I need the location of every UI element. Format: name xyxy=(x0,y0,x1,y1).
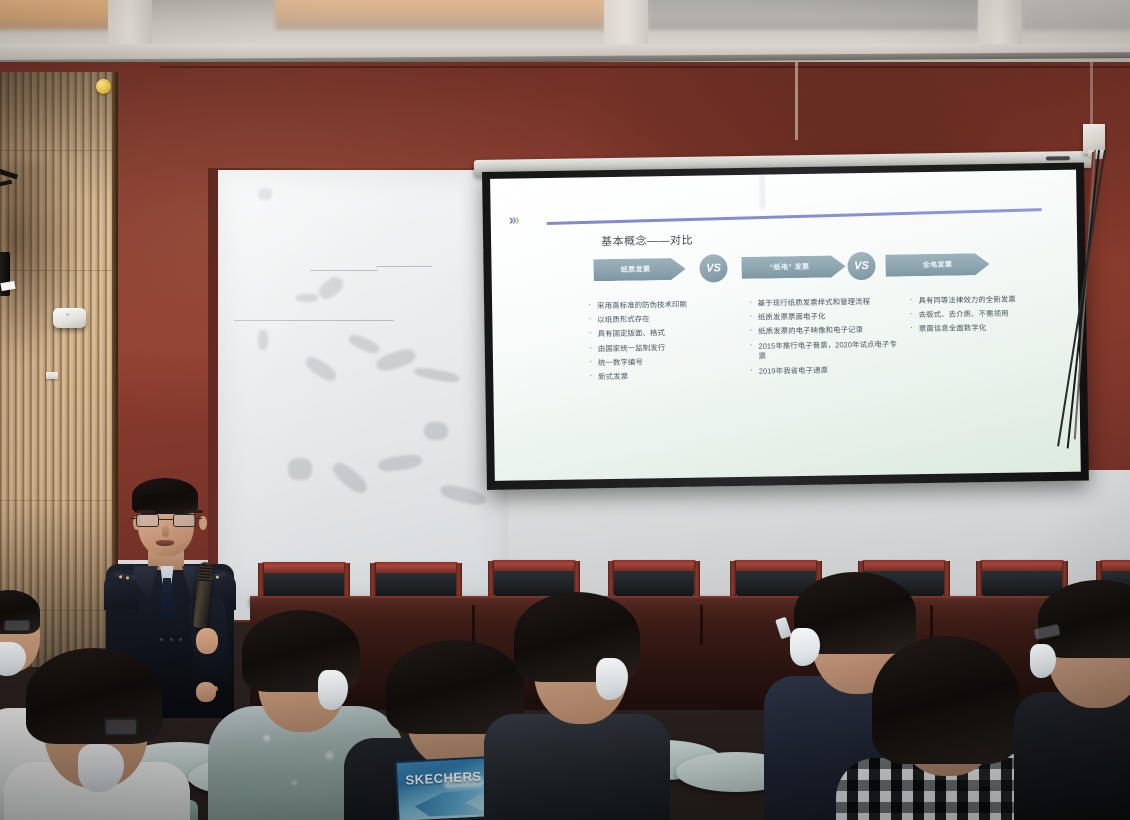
epaulette-star-icon xyxy=(216,575,219,578)
list-item: 新式发票 xyxy=(589,370,740,383)
slide-header-rule xyxy=(547,208,1042,224)
ceiling-recess-panel xyxy=(0,0,110,30)
list-item: 具有同等法律效力的全新发票 xyxy=(909,294,1060,307)
uniform-button xyxy=(179,638,182,641)
list-item: 纸质发票票面电子化 xyxy=(749,311,900,324)
presenter-hair xyxy=(132,478,198,514)
chair-seat xyxy=(614,571,694,597)
vs-badge-2: VS xyxy=(847,252,875,280)
attendee-top xyxy=(484,714,670,820)
ceiling-recess-panel xyxy=(1022,0,1130,30)
microphone-grille-icon xyxy=(198,563,212,582)
eyeglasses-icon xyxy=(4,620,30,631)
list-item: 具有固定版面、格式 xyxy=(588,327,739,340)
list-item: 由国家统一监制发行 xyxy=(589,342,740,355)
eyeglass-temple xyxy=(130,518,136,519)
eyeglasses-icon xyxy=(104,718,138,736)
attendee-hair xyxy=(1038,580,1130,658)
attendee-hair xyxy=(872,636,1020,764)
list-item: 2015年推行电子普票，2020年试点电子专票 xyxy=(749,339,900,363)
whiteboard-glare xyxy=(218,170,508,595)
list-item: 采用高标准的防伪技术印刷 xyxy=(588,299,739,312)
graphic-swoosh-shape xyxy=(414,788,491,818)
chair-post xyxy=(944,561,950,601)
list-item: 纸质发票的电子映像和电子记录 xyxy=(749,325,900,338)
comparison-tag-row: 纸质发票 VS “纸电” 发票 VS 全电发票 xyxy=(593,251,1013,286)
paper-invoice-column: 采用高标准的防伪技术印刷 以纸质形式存在 具有固定版面、格式 由国家统一监制发行… xyxy=(588,299,741,441)
ceiling-recess-panel xyxy=(275,0,605,30)
tv-wall-mount-bracket xyxy=(0,170,24,295)
ceiling-beam xyxy=(978,0,1022,44)
face-mask xyxy=(318,670,348,710)
presenter-eyebrow xyxy=(137,510,155,513)
gold-emblem-badge xyxy=(96,79,111,94)
uniform-button xyxy=(170,638,173,641)
slide-title: 基本概念——对比 xyxy=(601,232,693,249)
mount-arm xyxy=(0,180,12,188)
list-item: 去版式、去介质、不需领用 xyxy=(910,308,1061,321)
fully-electronic-invoice-column: 具有同等法律效力的全新发票 去版式、去介质、不需领用 票面信息全面数字化 xyxy=(909,294,1062,436)
presenter-eyebrow xyxy=(185,510,203,513)
projection-screen-frame: ››› 基本概念——对比 纸质发票 VS “纸电” 发票 VS 全电发票 采用高… xyxy=(482,163,1089,490)
chevron-right-icon: › xyxy=(515,211,518,228)
eyeglass-temple xyxy=(196,518,202,519)
slat-panel-seam xyxy=(0,500,116,501)
wall-top-trim xyxy=(160,66,1130,68)
presenter-hand xyxy=(196,682,216,702)
list-item: 以纸质形式存在 xyxy=(588,313,739,326)
eyeglass-lens xyxy=(173,514,196,527)
list-item: 票面信息全面数字化 xyxy=(910,322,1061,335)
attendee-left-masked xyxy=(18,652,168,820)
status-led-icon xyxy=(66,313,69,316)
uniform-button xyxy=(160,638,163,641)
dais-panel-seam xyxy=(700,605,703,645)
presenter-nose xyxy=(162,526,169,537)
presenter-mouth xyxy=(156,540,174,546)
tag-fully-electronic-invoice: 全电发票 xyxy=(885,253,989,277)
vs-badge-1: VS xyxy=(699,254,727,282)
wall-switch-plate[interactable] xyxy=(46,372,58,379)
presentation-slide: ››› 基本概念——对比 纸质发票 VS “纸电” 发票 VS 全电发票 采用高… xyxy=(490,170,1081,481)
roller-vent xyxy=(1046,156,1070,160)
slat-panel-seam xyxy=(0,150,116,151)
slide-bullet-columns: 采用高标准的防伪技术印刷 以纸质形式存在 具有固定版面、格式 由国家统一监制发行… xyxy=(588,294,1062,441)
attendee-hair xyxy=(26,648,162,744)
list-item: 2019年我省电子通票 xyxy=(750,364,901,377)
epaulette-star-icon xyxy=(126,576,129,579)
tag-paper-invoice: 纸质发票 xyxy=(593,258,685,281)
uniform-buttons xyxy=(160,638,182,642)
lecture-hall-photo: ››› 基本概念——对比 纸质发票 VS “纸电” 发票 VS 全电发票 采用高… xyxy=(0,0,1130,820)
tag-paper-electronic-invoice: “纸电” 发票 xyxy=(741,255,845,279)
list-item: 基于现行纸质发票样式和管理流程 xyxy=(749,296,900,309)
ceiling-beam xyxy=(604,0,648,44)
chevron-right-icon: ››› xyxy=(509,212,518,227)
ceiling-recess-panel xyxy=(648,0,978,30)
eyeglass-bridge xyxy=(159,519,173,520)
wall-access-point xyxy=(53,308,86,328)
projection-screen-surface: ››› 基本概念——对比 纸质发票 VS “纸电” 发票 VS 全电发票 采用高… xyxy=(490,170,1081,481)
paper-electronic-invoice-column: 基于现行纸质发票样式和管理流程 纸质发票票面电子化 纸质发票的电子映像和电子记录… xyxy=(749,296,902,438)
cable-clamp xyxy=(1088,150,1104,159)
attendee-center-masked xyxy=(500,596,650,820)
dais-panel-seam xyxy=(472,605,475,645)
attendee-top xyxy=(1014,692,1130,820)
whiteboard xyxy=(218,170,508,595)
eyeglass-lens xyxy=(136,514,159,527)
chair-post xyxy=(694,561,700,601)
projector-hotspot xyxy=(760,175,765,209)
epaulette-star-icon xyxy=(119,575,122,578)
ceiling-beam xyxy=(108,0,152,44)
wall-panel-seam xyxy=(795,62,798,140)
list-item: 统一数字编号 xyxy=(589,356,740,369)
attendee-right-glasses xyxy=(1042,588,1130,820)
